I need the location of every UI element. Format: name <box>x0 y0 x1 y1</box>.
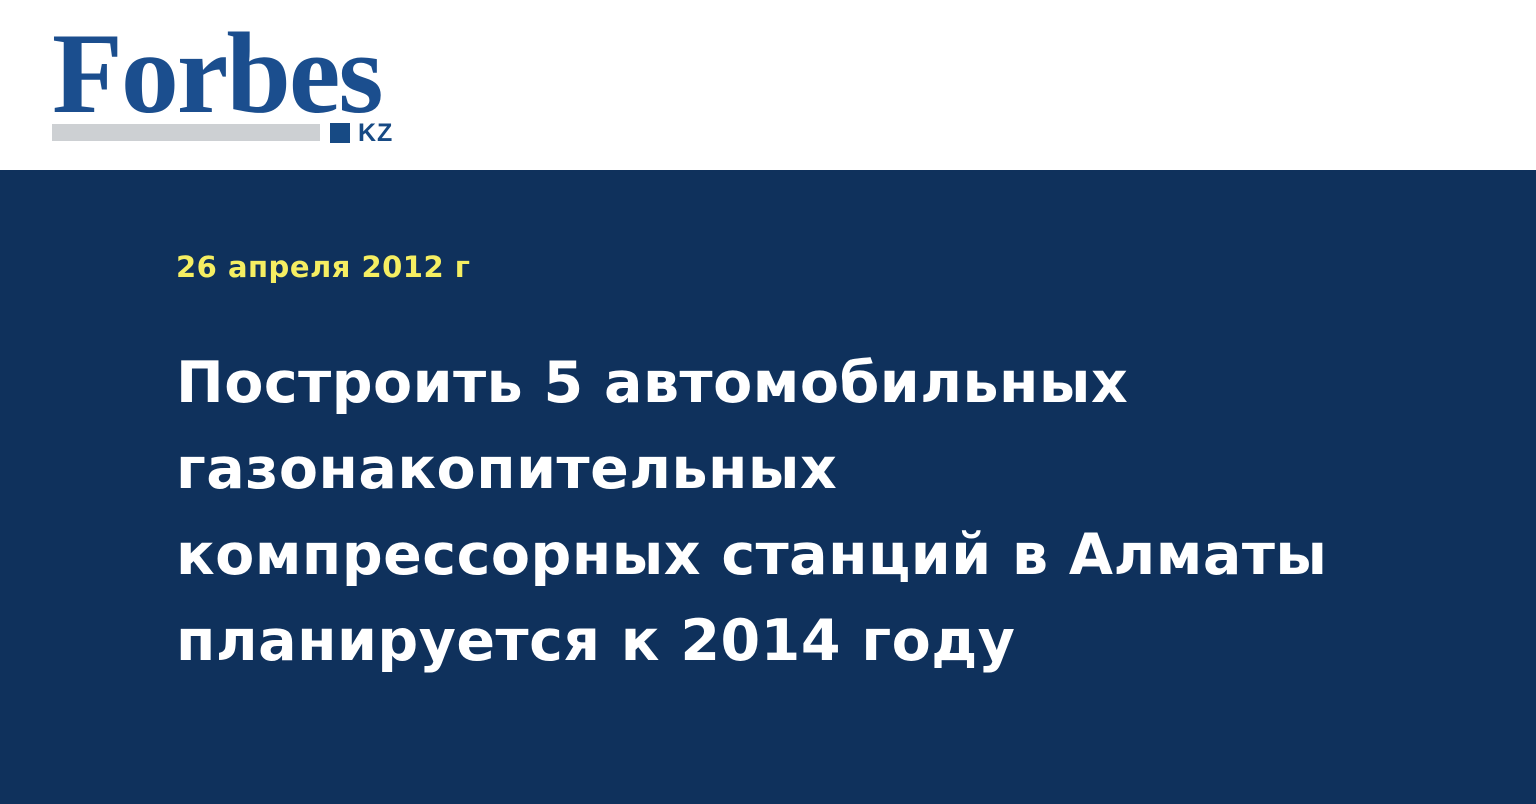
article-title-line: планируется к 2014 году <box>176 598 1426 684</box>
article-title-line: компрессорных станций в Алматы <box>176 512 1426 598</box>
site-header: Forbes KZ <box>0 0 1536 170</box>
logo-country-code: KZ <box>358 121 393 146</box>
article-hero: 26 апреля 2012 г Построить 5 автомобильн… <box>0 170 1536 804</box>
logo-underbar <box>52 124 320 141</box>
logo-square-icon <box>330 123 350 143</box>
article-title-line: Построить 5 автомобильных <box>176 340 1426 426</box>
article-title: Построить 5 автомобильных газонакопитель… <box>176 340 1426 684</box>
forbes-wordmark: Forbes <box>52 22 382 126</box>
forbes-kz-logo[interactable]: Forbes KZ <box>52 22 404 146</box>
page-root: Forbes KZ 26 апреля 2012 г Построить 5 а… <box>0 0 1536 804</box>
article-title-line: газонакопительных <box>176 426 1426 512</box>
article-date: 26 апреля 2012 г <box>176 250 470 284</box>
